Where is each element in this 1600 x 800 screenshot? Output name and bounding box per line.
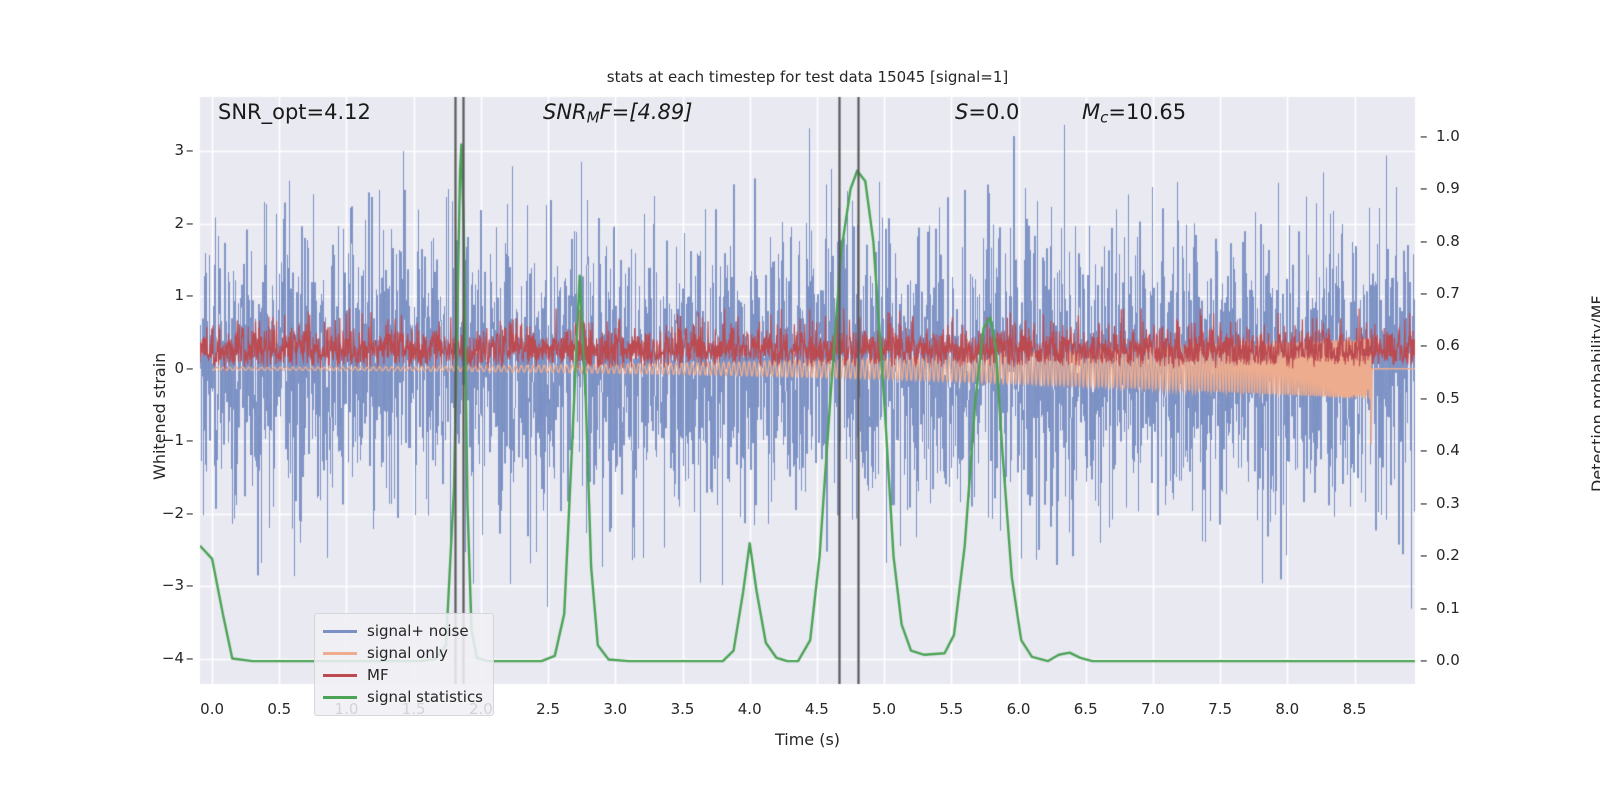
y-tick-mark-right-6: – bbox=[1420, 441, 1428, 459]
y-tick-mark-left-0: – bbox=[186, 141, 194, 159]
x-tick-17: 8.5 bbox=[1325, 700, 1385, 718]
y-tick-left-0: 3 bbox=[134, 141, 184, 159]
y-tick-right-9: 0.1 bbox=[1436, 599, 1496, 617]
annotation-s-value: =0.0 bbox=[968, 100, 1019, 124]
y-tick-right-7: 0.3 bbox=[1436, 494, 1496, 512]
figure-canvas: stats at each timestep for test data 150… bbox=[0, 0, 1600, 800]
x-tick-7: 3.5 bbox=[653, 700, 713, 718]
x-tick-15: 7.5 bbox=[1190, 700, 1250, 718]
annotation-snr-mf-prefix: SNR bbox=[543, 100, 587, 124]
y-axis-label-right: Detection probability/MF bbox=[1588, 295, 1600, 492]
legend-item-signal-statistics[interactable]: signal statistics bbox=[323, 686, 485, 708]
x-tick-11: 5.5 bbox=[921, 700, 981, 718]
y-tick-right-2: 0.8 bbox=[1436, 232, 1496, 250]
x-tick-10: 5.0 bbox=[854, 700, 914, 718]
y-tick-left-2: 1 bbox=[134, 286, 184, 304]
y-tick-right-1: 0.9 bbox=[1436, 179, 1496, 197]
annotation-mc-value: =10.65 bbox=[1108, 100, 1186, 124]
y-tick-mark-left-6: – bbox=[186, 576, 194, 594]
annotation-s-symbol: S bbox=[955, 100, 968, 124]
annotation-chirp-mass: Mc=10.65 bbox=[1082, 100, 1186, 126]
y-tick-right-0: 1.0 bbox=[1436, 127, 1496, 145]
x-tick-8: 4.0 bbox=[720, 700, 780, 718]
annotation-snr-opt: SNR_opt=4.12 bbox=[218, 100, 371, 124]
y-tick-mark-right-4: – bbox=[1420, 336, 1428, 354]
y-tick-mark-right-9: – bbox=[1420, 599, 1428, 617]
y-tick-mark-right-3: – bbox=[1420, 284, 1428, 302]
legend-item-mf[interactable]: MF bbox=[323, 664, 485, 686]
legend[interactable]: signal+ noisesignal onlyMFsignal statist… bbox=[314, 613, 494, 716]
y-tick-right-10: 0.0 bbox=[1436, 651, 1496, 669]
y-tick-left-3: 0 bbox=[134, 359, 184, 377]
chart-title: stats at each timestep for test data 150… bbox=[200, 68, 1415, 86]
legend-swatch-signal-only bbox=[323, 652, 357, 655]
y-tick-mark-left-1: – bbox=[186, 214, 194, 232]
y-tick-right-5: 0.5 bbox=[1436, 389, 1496, 407]
y-tick-mark-right-1: – bbox=[1420, 179, 1428, 197]
annotation-snr-mf-subscript: M bbox=[587, 108, 600, 126]
x-tick-5: 2.5 bbox=[518, 700, 578, 718]
y-tick-right-3: 0.7 bbox=[1436, 284, 1496, 302]
y-tick-mark-left-3: – bbox=[186, 359, 194, 377]
legend-label-signal-statistics: signal statistics bbox=[367, 688, 483, 706]
legend-swatch-mf bbox=[323, 674, 357, 677]
annotation-snr-mf-suffix: F=[4.89] bbox=[600, 100, 693, 124]
annotation-mc-symbol: M bbox=[1082, 100, 1100, 124]
legend-label-mf: MF bbox=[367, 666, 389, 684]
annotation-s: S=0.0 bbox=[955, 100, 1019, 124]
y-tick-mark-right-2: – bbox=[1420, 232, 1428, 250]
x-tick-16: 8.0 bbox=[1257, 700, 1317, 718]
y-tick-mark-right-0: – bbox=[1420, 127, 1428, 145]
y-tick-right-6: 0.4 bbox=[1436, 441, 1496, 459]
y-tick-right-8: 0.2 bbox=[1436, 546, 1496, 564]
x-tick-14: 7.0 bbox=[1123, 700, 1183, 718]
legend-swatch-signal-statistics bbox=[323, 696, 357, 699]
y-tick-left-1: 2 bbox=[134, 214, 184, 232]
legend-label-signal-noise: signal+ noise bbox=[367, 622, 469, 640]
legend-label-signal-only: signal only bbox=[367, 644, 448, 662]
x-tick-9: 4.5 bbox=[787, 700, 847, 718]
y-tick-left-4: −1 bbox=[134, 431, 184, 449]
x-tick-1: 0.5 bbox=[249, 700, 309, 718]
y-tick-left-6: −3 bbox=[134, 576, 184, 594]
annotation-snr-mf: SNRMF=[4.89] bbox=[543, 100, 692, 126]
x-tick-13: 6.5 bbox=[1056, 700, 1116, 718]
y-tick-mark-right-10: – bbox=[1420, 651, 1428, 669]
legend-item-signal-only[interactable]: signal only bbox=[323, 642, 485, 664]
legend-item-signal-noise[interactable]: signal+ noise bbox=[323, 620, 485, 642]
y-tick-left-7: −4 bbox=[134, 649, 184, 667]
y-tick-mark-right-8: – bbox=[1420, 546, 1428, 564]
x-tick-0: 0.0 bbox=[182, 700, 242, 718]
y-tick-mark-left-2: – bbox=[186, 286, 194, 304]
y-tick-mark-right-7: – bbox=[1420, 494, 1428, 512]
y-tick-mark-right-5: – bbox=[1420, 389, 1428, 407]
y-tick-mark-left-5: – bbox=[186, 504, 194, 522]
x-tick-6: 3.0 bbox=[585, 700, 645, 718]
y-tick-left-5: −2 bbox=[134, 504, 184, 522]
x-tick-12: 6.0 bbox=[989, 700, 1049, 718]
y-tick-mark-left-4: – bbox=[186, 431, 194, 449]
y-tick-right-4: 0.6 bbox=[1436, 336, 1496, 354]
y-tick-mark-left-7: – bbox=[186, 649, 194, 667]
x-axis-label: Time (s) bbox=[200, 730, 1415, 749]
legend-swatch-signal-noise bbox=[323, 630, 357, 633]
